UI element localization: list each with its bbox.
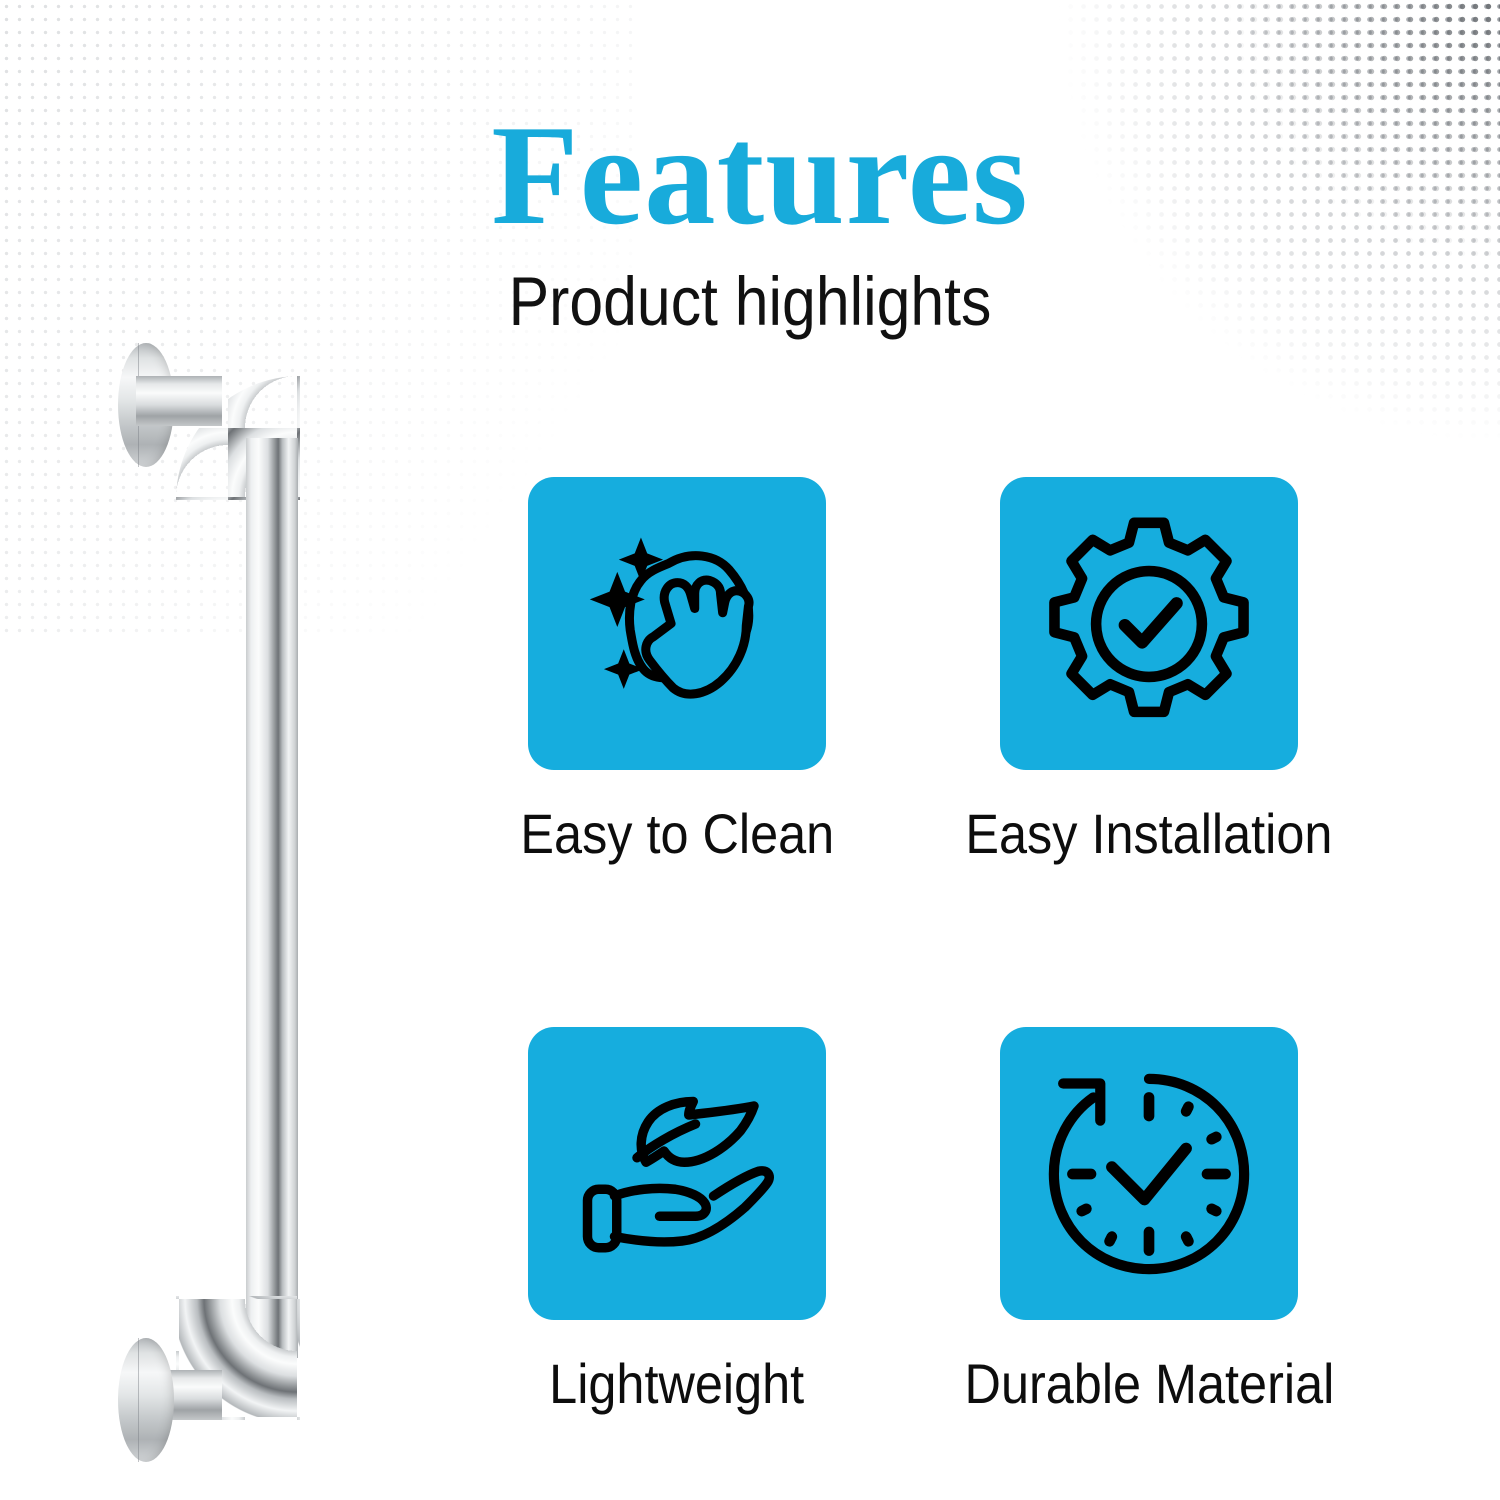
feature-row-2: Lightweight bbox=[528, 1027, 1300, 1412]
hand-wipe-sparkle-icon bbox=[570, 516, 785, 731]
feature-easy-to-clean[interactable]: Easy to Clean bbox=[528, 477, 826, 862]
feature-durable-material[interactable]: Durable Material bbox=[1000, 1027, 1298, 1412]
flange-seam-bottom bbox=[138, 1338, 139, 1462]
feather-in-hand-icon bbox=[565, 1061, 790, 1286]
feature-label: Easy Installation bbox=[965, 806, 1332, 862]
mounting-flange-bottom bbox=[118, 1338, 174, 1462]
feature-label: Durable Material bbox=[964, 1356, 1334, 1412]
feature-easy-installation[interactable]: Easy Installation bbox=[1000, 477, 1298, 862]
feature-grid: Easy to Clean Easy Installation bbox=[528, 477, 1300, 1412]
feature-tile bbox=[1000, 477, 1298, 770]
feature-tile bbox=[1000, 1027, 1298, 1320]
feature-row-1: Easy to Clean Easy Installation bbox=[528, 477, 1300, 862]
feature-tile bbox=[528, 477, 826, 770]
feature-label: Lightweight bbox=[550, 1356, 805, 1412]
clock-refresh-icon bbox=[1033, 1058, 1265, 1290]
feature-tile bbox=[528, 1027, 826, 1320]
product-image-grab-bar bbox=[100, 330, 360, 1460]
feature-lightweight[interactable]: Lightweight bbox=[528, 1027, 826, 1412]
features-infographic: Features Product highlights bbox=[0, 0, 1500, 1500]
header-block: Features Product highlights bbox=[0, 104, 1500, 336]
page-subtitle: Product highlights bbox=[90, 247, 1410, 336]
bar-shaft bbox=[246, 438, 298, 1358]
gear-check-icon bbox=[1034, 509, 1264, 739]
page-title: Features bbox=[0, 104, 1500, 247]
feature-label: Easy to Clean bbox=[520, 806, 834, 862]
